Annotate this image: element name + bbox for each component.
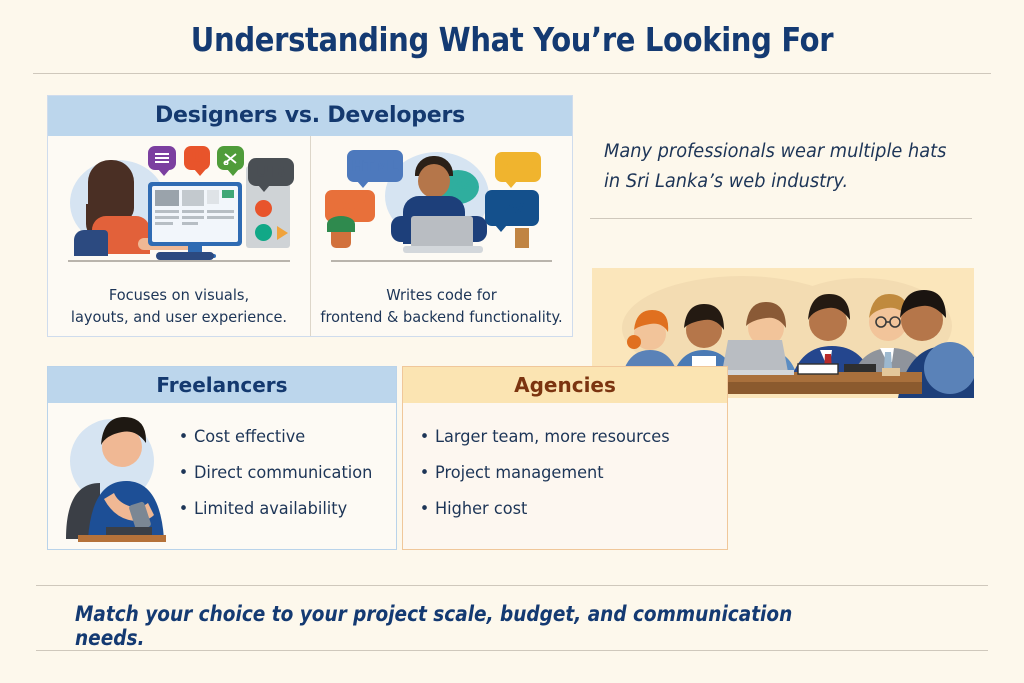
list-icon bbox=[154, 152, 170, 164]
page-title: Understanding What You’re Looking For bbox=[61, 20, 962, 59]
divider-top bbox=[33, 73, 991, 74]
swatch-orange bbox=[255, 200, 272, 217]
side-note-text: Many professionals wear multiple hats in… bbox=[604, 137, 959, 197]
list-item: Limited availability bbox=[194, 491, 372, 527]
divider-side bbox=[590, 218, 972, 219]
bubble-html: HTML bbox=[347, 150, 403, 182]
designers-vs-developers-body: U UIB bbox=[48, 136, 572, 336]
bubble-zv: ZV bbox=[485, 190, 539, 226]
list-item: Higher cost bbox=[435, 491, 712, 527]
divider-footer-bottom bbox=[36, 650, 988, 651]
developer-column: HTML CCS CSS AED ZV bbox=[310, 136, 572, 336]
cut-icon bbox=[223, 152, 238, 165]
u-letter-badge: U bbox=[184, 146, 210, 170]
divider-footer-top bbox=[36, 585, 988, 586]
bubble-aed: AED bbox=[495, 152, 541, 182]
agencies-bullet-list: Larger team, more resources Project mana… bbox=[413, 403, 727, 527]
agencies-heading: Agencies bbox=[403, 367, 727, 403]
list-item: Project management bbox=[435, 455, 712, 491]
freelancer-illustration bbox=[48, 403, 172, 549]
wireframe-screen bbox=[152, 186, 238, 242]
freelancers-panel: Freelancers bbox=[47, 366, 397, 550]
developer-illustration: HTML CCS CSS AED ZV bbox=[319, 142, 564, 262]
list-item: Larger team, more resources bbox=[435, 419, 712, 455]
freelancers-heading: Freelancers bbox=[48, 367, 396, 403]
list-item: Direct communication bbox=[194, 455, 372, 491]
freelancer-scene bbox=[48, 403, 172, 549]
agencies-panel: Agencies Larger team, more resources Pro… bbox=[402, 366, 728, 550]
designer-caption: Focuses on visuals, layouts, and user ex… bbox=[56, 284, 302, 328]
footer-note-text: Match your choice to your project scale,… bbox=[75, 602, 841, 650]
uib-tag: UIB bbox=[248, 158, 294, 186]
designers-vs-developers-panel: Designers vs. Developers U bbox=[47, 95, 573, 337]
list-icon-badge bbox=[148, 146, 176, 170]
designer-column: U UIB bbox=[48, 136, 310, 336]
freelancers-body: Cost effective Direct communication Limi… bbox=[48, 403, 396, 549]
designers-vs-developers-heading: Designers vs. Developers bbox=[48, 96, 572, 136]
list-item: Cost effective bbox=[194, 419, 372, 455]
swatch-teal bbox=[255, 224, 272, 241]
cut-icon-badge bbox=[217, 146, 244, 170]
freelancers-bullet-list: Cost effective Direct communication Limi… bbox=[172, 403, 382, 549]
infographic-canvas: Understanding What You’re Looking For De… bbox=[0, 0, 1024, 683]
designer-illustration: U UIB bbox=[56, 142, 302, 262]
developer-caption: Writes code for frontend & backend funct… bbox=[319, 284, 564, 328]
agencies-body: Larger team, more resources Project mana… bbox=[403, 403, 727, 549]
